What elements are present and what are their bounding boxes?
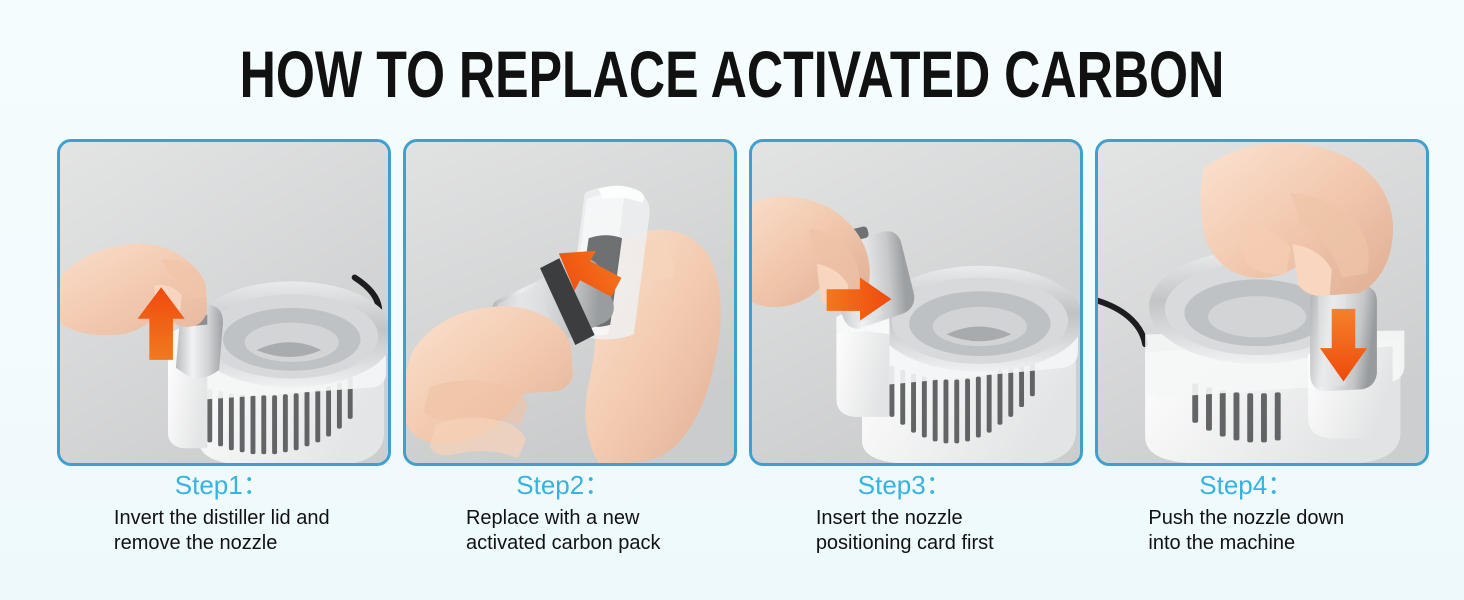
steps-image-row [57,139,1411,466]
step-1-photo [57,139,391,466]
caption-3: Step3： Insert the nozzle positioning car… [740,470,1070,580]
captions-row: Step1： Invert the distiller lid and remo… [57,470,1411,580]
step-3 [749,139,1083,466]
caption-1: Step1： Invert the distiller lid and remo… [57,470,387,580]
step-3-label: Step3： [740,470,1070,500]
step-4-text: Push the nozzle down into the machine [1148,506,1344,556]
step-4-photo [1095,139,1429,466]
step-2-text: Replace with a new activated carbon pack [466,506,661,556]
step-3-photo [749,139,1083,466]
caption-2: Step2： Replace with a new activated carb… [399,470,729,580]
step-3-text: Insert the nozzle positioning card first [816,506,994,556]
caption-4: Step4： Push the nozzle down into the mac… [1082,470,1412,580]
infographic-root: HOW TO REPLACE ACTIVATED CARBON [0,0,1464,600]
step-4 [1095,139,1429,466]
step-1-label: Step1： [57,470,387,500]
page-title: HOW TO REPLACE ACTIVATED CARBON [176,38,1289,110]
step-1 [57,139,391,466]
step-4-label: Step4： [1082,470,1412,500]
step-2-photo [403,139,737,466]
step-2 [403,139,737,466]
step-2-label: Step2： [399,470,729,500]
step-1-text: Invert the distiller lid and remove the … [114,506,330,556]
